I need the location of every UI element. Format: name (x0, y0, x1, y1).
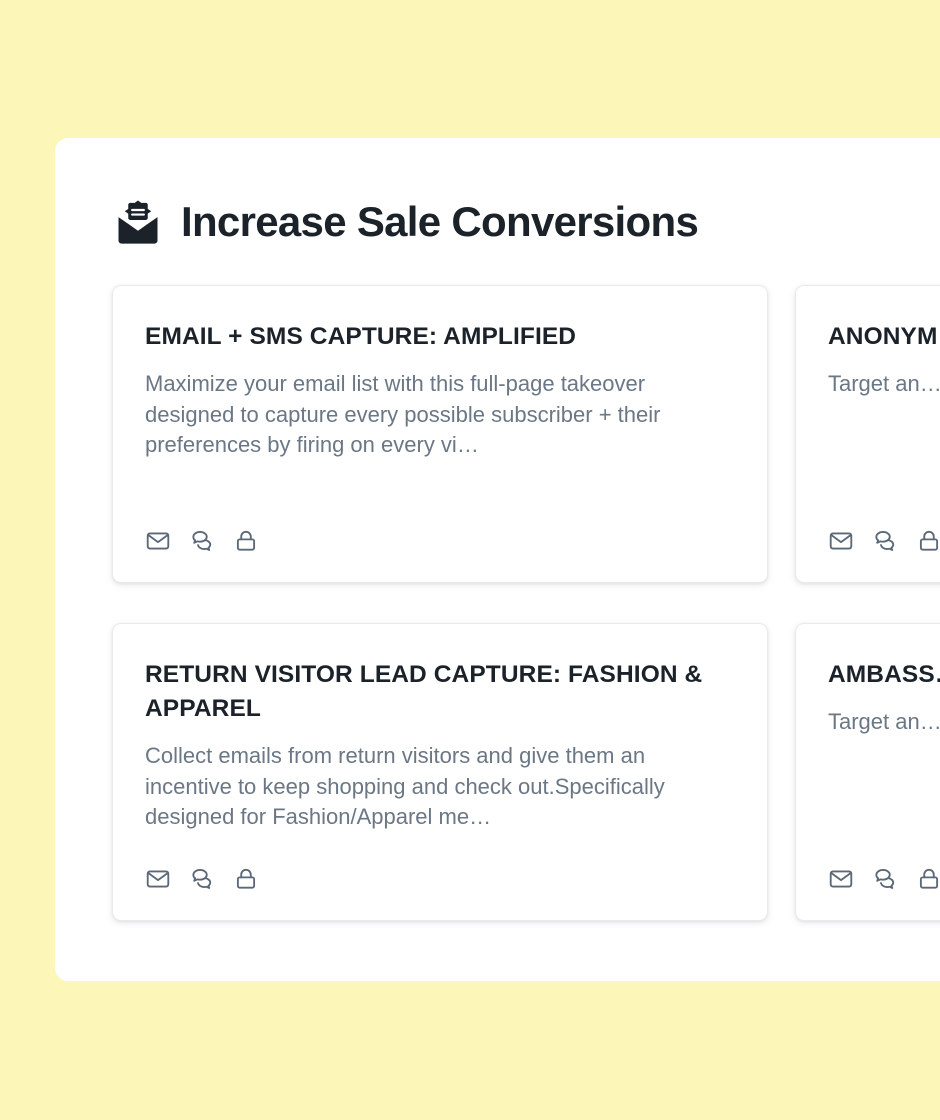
envelope-icon[interactable] (828, 528, 854, 554)
card-description: Target an… design tha… (828, 369, 940, 399)
template-card[interactable]: RETURN VISITOR LEAD CAPTURE: FASHION & A… (112, 623, 768, 921)
template-card[interactable]: AMBASS… Target an… design tha… (795, 623, 940, 921)
template-card-grid: EMAIL + SMS CAPTURE: AMPLIFIED Maximize … (112, 285, 940, 921)
card-feature-icons (145, 528, 259, 554)
panel-header: Increase Sale Conversions (112, 195, 698, 249)
envelope-icon[interactable] (145, 866, 171, 892)
page-title: Increase Sale Conversions (181, 201, 698, 243)
open-envelope-letter-icon (112, 197, 164, 249)
chat-bubbles-icon[interactable] (872, 866, 898, 892)
chat-bubbles-icon[interactable] (872, 528, 898, 554)
card-title: ANONYM… FOLLOW… (828, 320, 940, 354)
card-title: RETURN VISITOR LEAD CAPTURE: FASHION & A… (145, 658, 735, 726)
lock-icon[interactable] (233, 866, 259, 892)
content-panel: Increase Sale Conversions EMAIL + SMS CA… (55, 138, 940, 981)
template-card[interactable]: EMAIL + SMS CAPTURE: AMPLIFIED Maximize … (112, 285, 768, 583)
card-feature-icons (828, 528, 940, 554)
chat-bubbles-icon[interactable] (189, 866, 215, 892)
page-root: Increase Sale Conversions EMAIL + SMS CA… (0, 0, 940, 1120)
card-description: Target an… design tha… (828, 707, 940, 737)
card-description: Collect emails from return visitors and … (145, 741, 735, 832)
envelope-icon[interactable] (828, 866, 854, 892)
card-title: AMBASS… (828, 658, 940, 692)
lock-icon[interactable] (916, 866, 940, 892)
card-description: Maximize your email list with this full-… (145, 369, 735, 460)
card-feature-icons (828, 866, 940, 892)
card-feature-icons (145, 866, 259, 892)
lock-icon[interactable] (233, 528, 259, 554)
envelope-icon[interactable] (145, 528, 171, 554)
card-title: EMAIL + SMS CAPTURE: AMPLIFIED (145, 320, 735, 354)
lock-icon[interactable] (916, 528, 940, 554)
chat-bubbles-icon[interactable] (189, 528, 215, 554)
template-card[interactable]: ANONYM… FOLLOW… Target an… design tha… (795, 285, 940, 583)
